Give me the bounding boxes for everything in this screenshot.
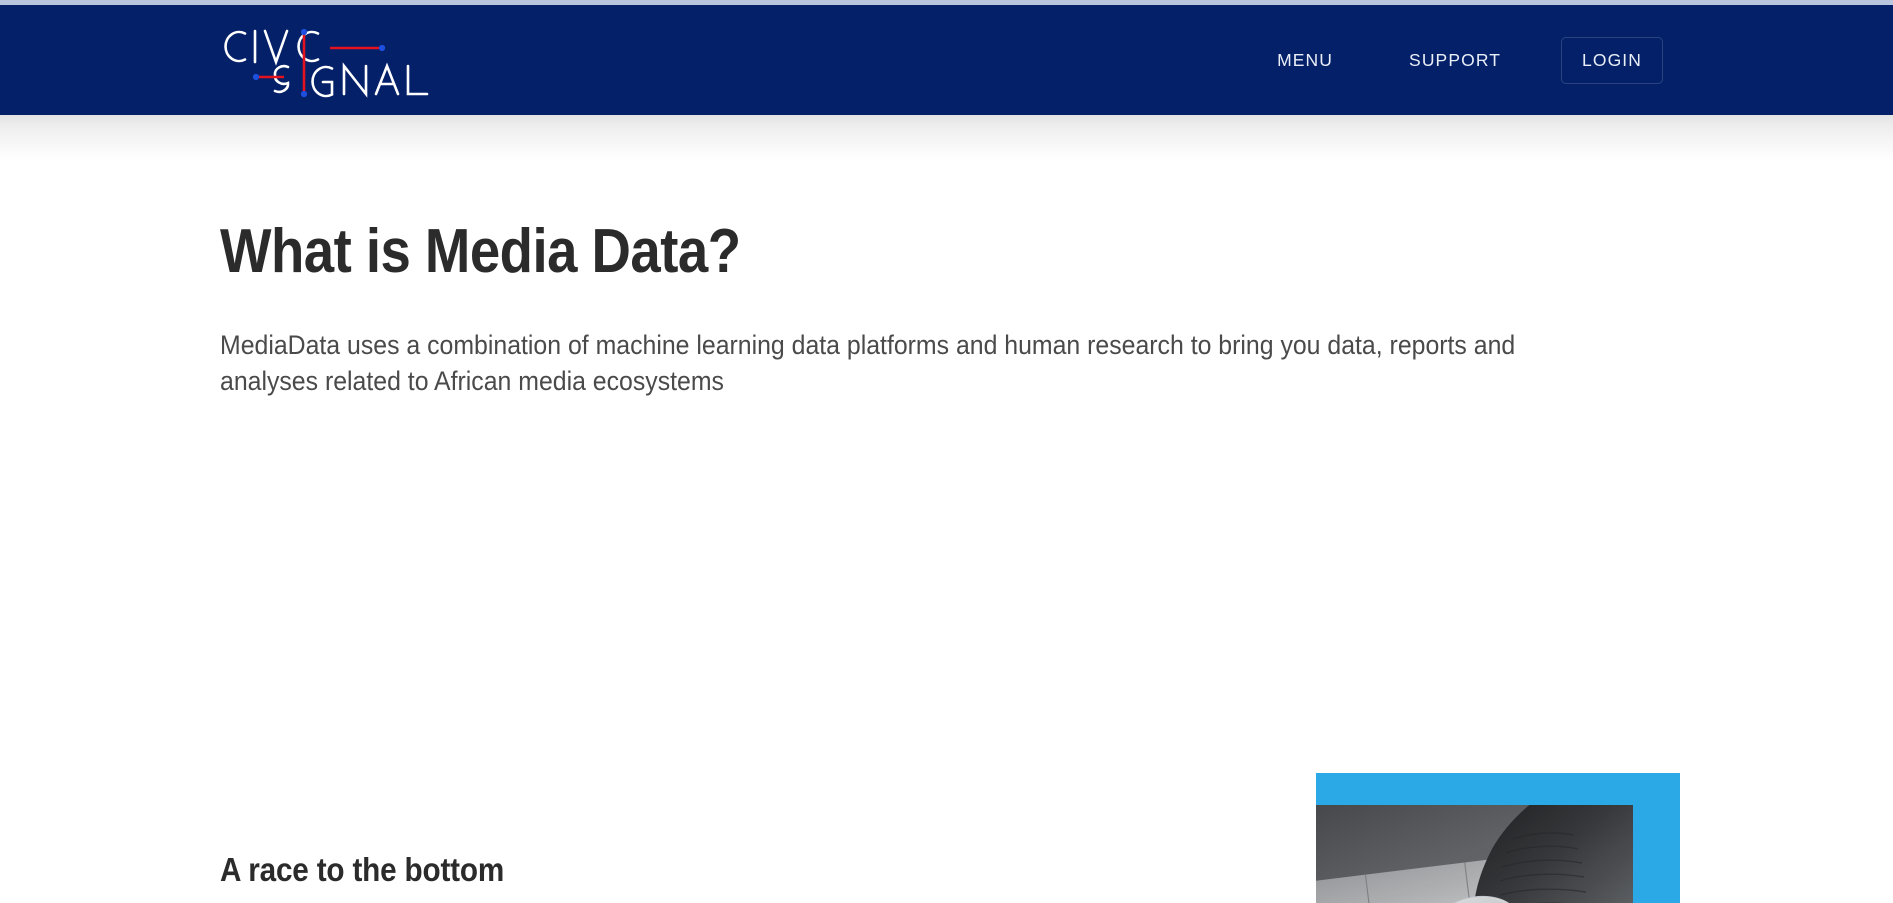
page-title: What is Media Data? [220, 161, 1499, 284]
nav-item-menu[interactable]: MENU [1259, 40, 1351, 81]
site-header: MENU SUPPORT LOGIN [0, 5, 1893, 115]
main-navigation: MENU SUPPORT LOGIN [1259, 37, 1663, 84]
nav-item-login[interactable]: LOGIN [1561, 37, 1663, 84]
civic-signal-logo[interactable] [220, 22, 448, 98]
header-drop-shadow [0, 115, 1893, 161]
article-section: A race to the bottom Populism, mis/disin… [220, 851, 1240, 903]
nav-item-support[interactable]: SUPPORT [1391, 40, 1519, 81]
feature-card[interactable]: Left Left Thumbprint 2 [1316, 773, 1680, 903]
page-main: What is Media Data? MediaData uses a com… [0, 161, 1893, 903]
article-heading[interactable]: A race to the bottom [220, 851, 1138, 889]
card-photo: Left Left Thumbprint 2 [1316, 805, 1633, 903]
page-subtitle: MediaData uses a combination of machine … [220, 328, 1557, 400]
